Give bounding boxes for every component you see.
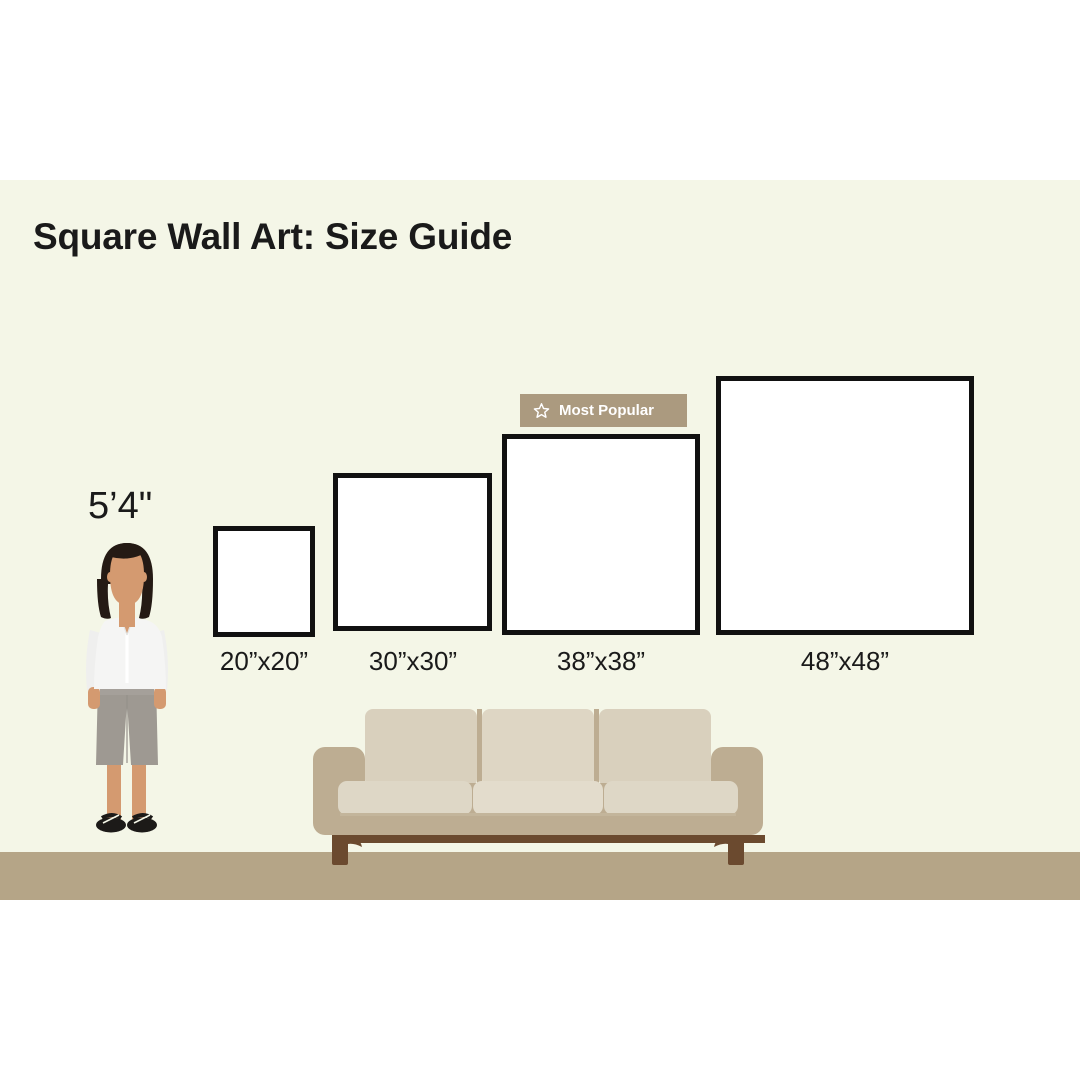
- shoes: [96, 815, 157, 833]
- most-popular-badge[interactable]: Most Popular: [520, 394, 687, 427]
- frame-30x30[interactable]: [333, 473, 492, 631]
- frame-label-30x30: 30”x30”: [342, 646, 484, 677]
- sofa-back-cushions: [365, 709, 711, 791]
- frame-38x38[interactable]: [502, 434, 700, 635]
- left-ear: [107, 572, 113, 582]
- person-figure: [72, 535, 182, 855]
- star-icon: [533, 402, 550, 419]
- frame-label-48x48: 48”x48”: [774, 646, 916, 677]
- frame-label-38x38: 38”x38”: [530, 646, 672, 677]
- sofa-legs: [332, 835, 765, 865]
- sofa-seat-cushions: [338, 781, 738, 816]
- most-popular-badge-label: Most Popular: [559, 402, 654, 419]
- trousers: [96, 682, 158, 765]
- frame-label-20x20: 20”x20”: [193, 646, 335, 677]
- page-title: Square Wall Art: Size Guide: [33, 216, 512, 258]
- frame-20x20[interactable]: [213, 526, 315, 637]
- frame-48x48[interactable]: [716, 376, 974, 635]
- scene: Square Wall Art: Size Guide 5’4": [0, 180, 1080, 900]
- sofa: [310, 695, 765, 870]
- person-height-label: 5’4": [88, 485, 152, 528]
- right-ear: [141, 572, 147, 582]
